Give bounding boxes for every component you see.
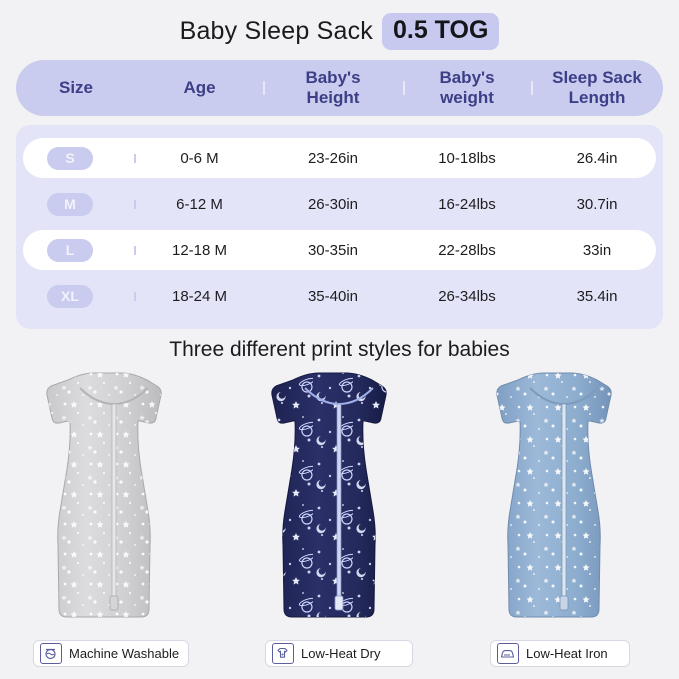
product-gallery <box>0 368 679 628</box>
table-body: S 0-6 M 23-26in 10-18lbs 26.4in M 6-12 M… <box>16 125 663 329</box>
table-header-height: Baby's Height <box>263 68 403 108</box>
grey-star-print-sleep-sack-graphic <box>8 368 221 628</box>
table-row: XL 18-24 M 35-40in 26-34lbs 35.4in <box>16 276 663 316</box>
cell-age: 6-12 M <box>136 196 263 213</box>
tog-badge: 0.5 TOG <box>382 13 499 50</box>
cell-length: 30.7in <box>531 196 663 213</box>
table-header-weight-line2: weight <box>403 88 531 108</box>
table-header-height-line1: Baby's <box>263 68 403 88</box>
cell-weight: 10-18lbs <box>403 150 531 167</box>
size-badge: XL <box>47 285 93 308</box>
cell-length: 26.4in <box>531 150 663 167</box>
table-header-age: Age <box>136 78 263 98</box>
size-badge: S <box>47 147 93 170</box>
navy-space-print-sleep-sack-graphic <box>233 368 446 628</box>
care-label: Machine Washable <box>69 646 179 661</box>
care-label: Low-Heat Dry <box>301 646 380 661</box>
title-text: Baby Sleep Sack <box>180 17 373 46</box>
cell-age: 12-18 M <box>136 242 263 259</box>
header-divider <box>263 81 265 95</box>
table-header-size: Size <box>16 78 136 98</box>
care-badge-low-heat-iron: Low-Heat Iron <box>490 640 630 667</box>
table-header-length: Sleep Sack Length <box>531 68 663 108</box>
table-header-weight-line1: Baby's <box>403 68 531 88</box>
size-badge: M <box>47 193 93 216</box>
machine-washable-icon <box>40 643 62 664</box>
table-header-size-line1: Size <box>59 78 93 97</box>
low-heat-dry-icon <box>272 643 294 664</box>
table-row: S 0-6 M 23-26in 10-18lbs 26.4in <box>16 138 663 178</box>
section-subtitle: Three different print styles for babies <box>0 338 679 362</box>
table-header-weight: Baby's weight <box>403 68 531 108</box>
cell-weight: 26-34lbs <box>403 288 531 305</box>
table-header-length-line1: Sleep Sack <box>531 68 663 88</box>
care-badge-machine-washable: Machine Washable <box>33 640 189 667</box>
product-infographic: Baby Sleep Sack 0.5 TOG Size Age Baby's … <box>0 0 679 679</box>
cell-weight: 16-24lbs <box>403 196 531 213</box>
cell-length: 33in <box>531 242 663 259</box>
cell-size: M <box>16 193 136 216</box>
cell-age: 0-6 M <box>136 150 263 167</box>
care-instructions: Machine Washable Low-Heat Dry Low-Heat I… <box>0 640 679 672</box>
cell-height: 35-40in <box>263 288 403 305</box>
table-header-age-line1: Age <box>183 78 215 97</box>
size-chart-table: Size Age Baby's Height Baby's weight Sle… <box>16 60 663 329</box>
header-divider <box>403 81 405 95</box>
cell-height: 30-35in <box>263 242 403 259</box>
cell-weight: 22-28lbs <box>403 242 531 259</box>
care-label: Low-Heat Iron <box>526 646 608 661</box>
table-header-height-line2: Height <box>263 88 403 108</box>
care-badge-low-heat-dry: Low-Heat Dry <box>265 640 413 667</box>
table-header-row: Size Age Baby's Height Baby's weight Sle… <box>16 60 663 116</box>
product-image-grey <box>8 368 221 628</box>
cell-size: S <box>16 147 136 170</box>
cell-length: 35.4in <box>531 288 663 305</box>
header-divider <box>531 81 533 95</box>
product-image-blue <box>458 368 671 628</box>
page-title: Baby Sleep Sack 0.5 TOG <box>0 10 679 52</box>
cell-height: 26-30in <box>263 196 403 213</box>
blue-star-print-sleep-sack-graphic <box>458 368 671 628</box>
product-image-navy <box>233 368 446 628</box>
table-row: M 6-12 M 26-30in 16-24lbs 30.7in <box>16 184 663 224</box>
size-badge: L <box>47 239 93 262</box>
table-row: L 12-18 M 30-35in 22-28lbs 33in <box>16 230 663 270</box>
cell-size: L <box>16 239 136 262</box>
table-header-length-line2: Length <box>531 88 663 108</box>
cell-size: XL <box>16 285 136 308</box>
low-heat-iron-icon <box>497 643 519 664</box>
cell-height: 23-26in <box>263 150 403 167</box>
cell-age: 18-24 M <box>136 288 263 305</box>
